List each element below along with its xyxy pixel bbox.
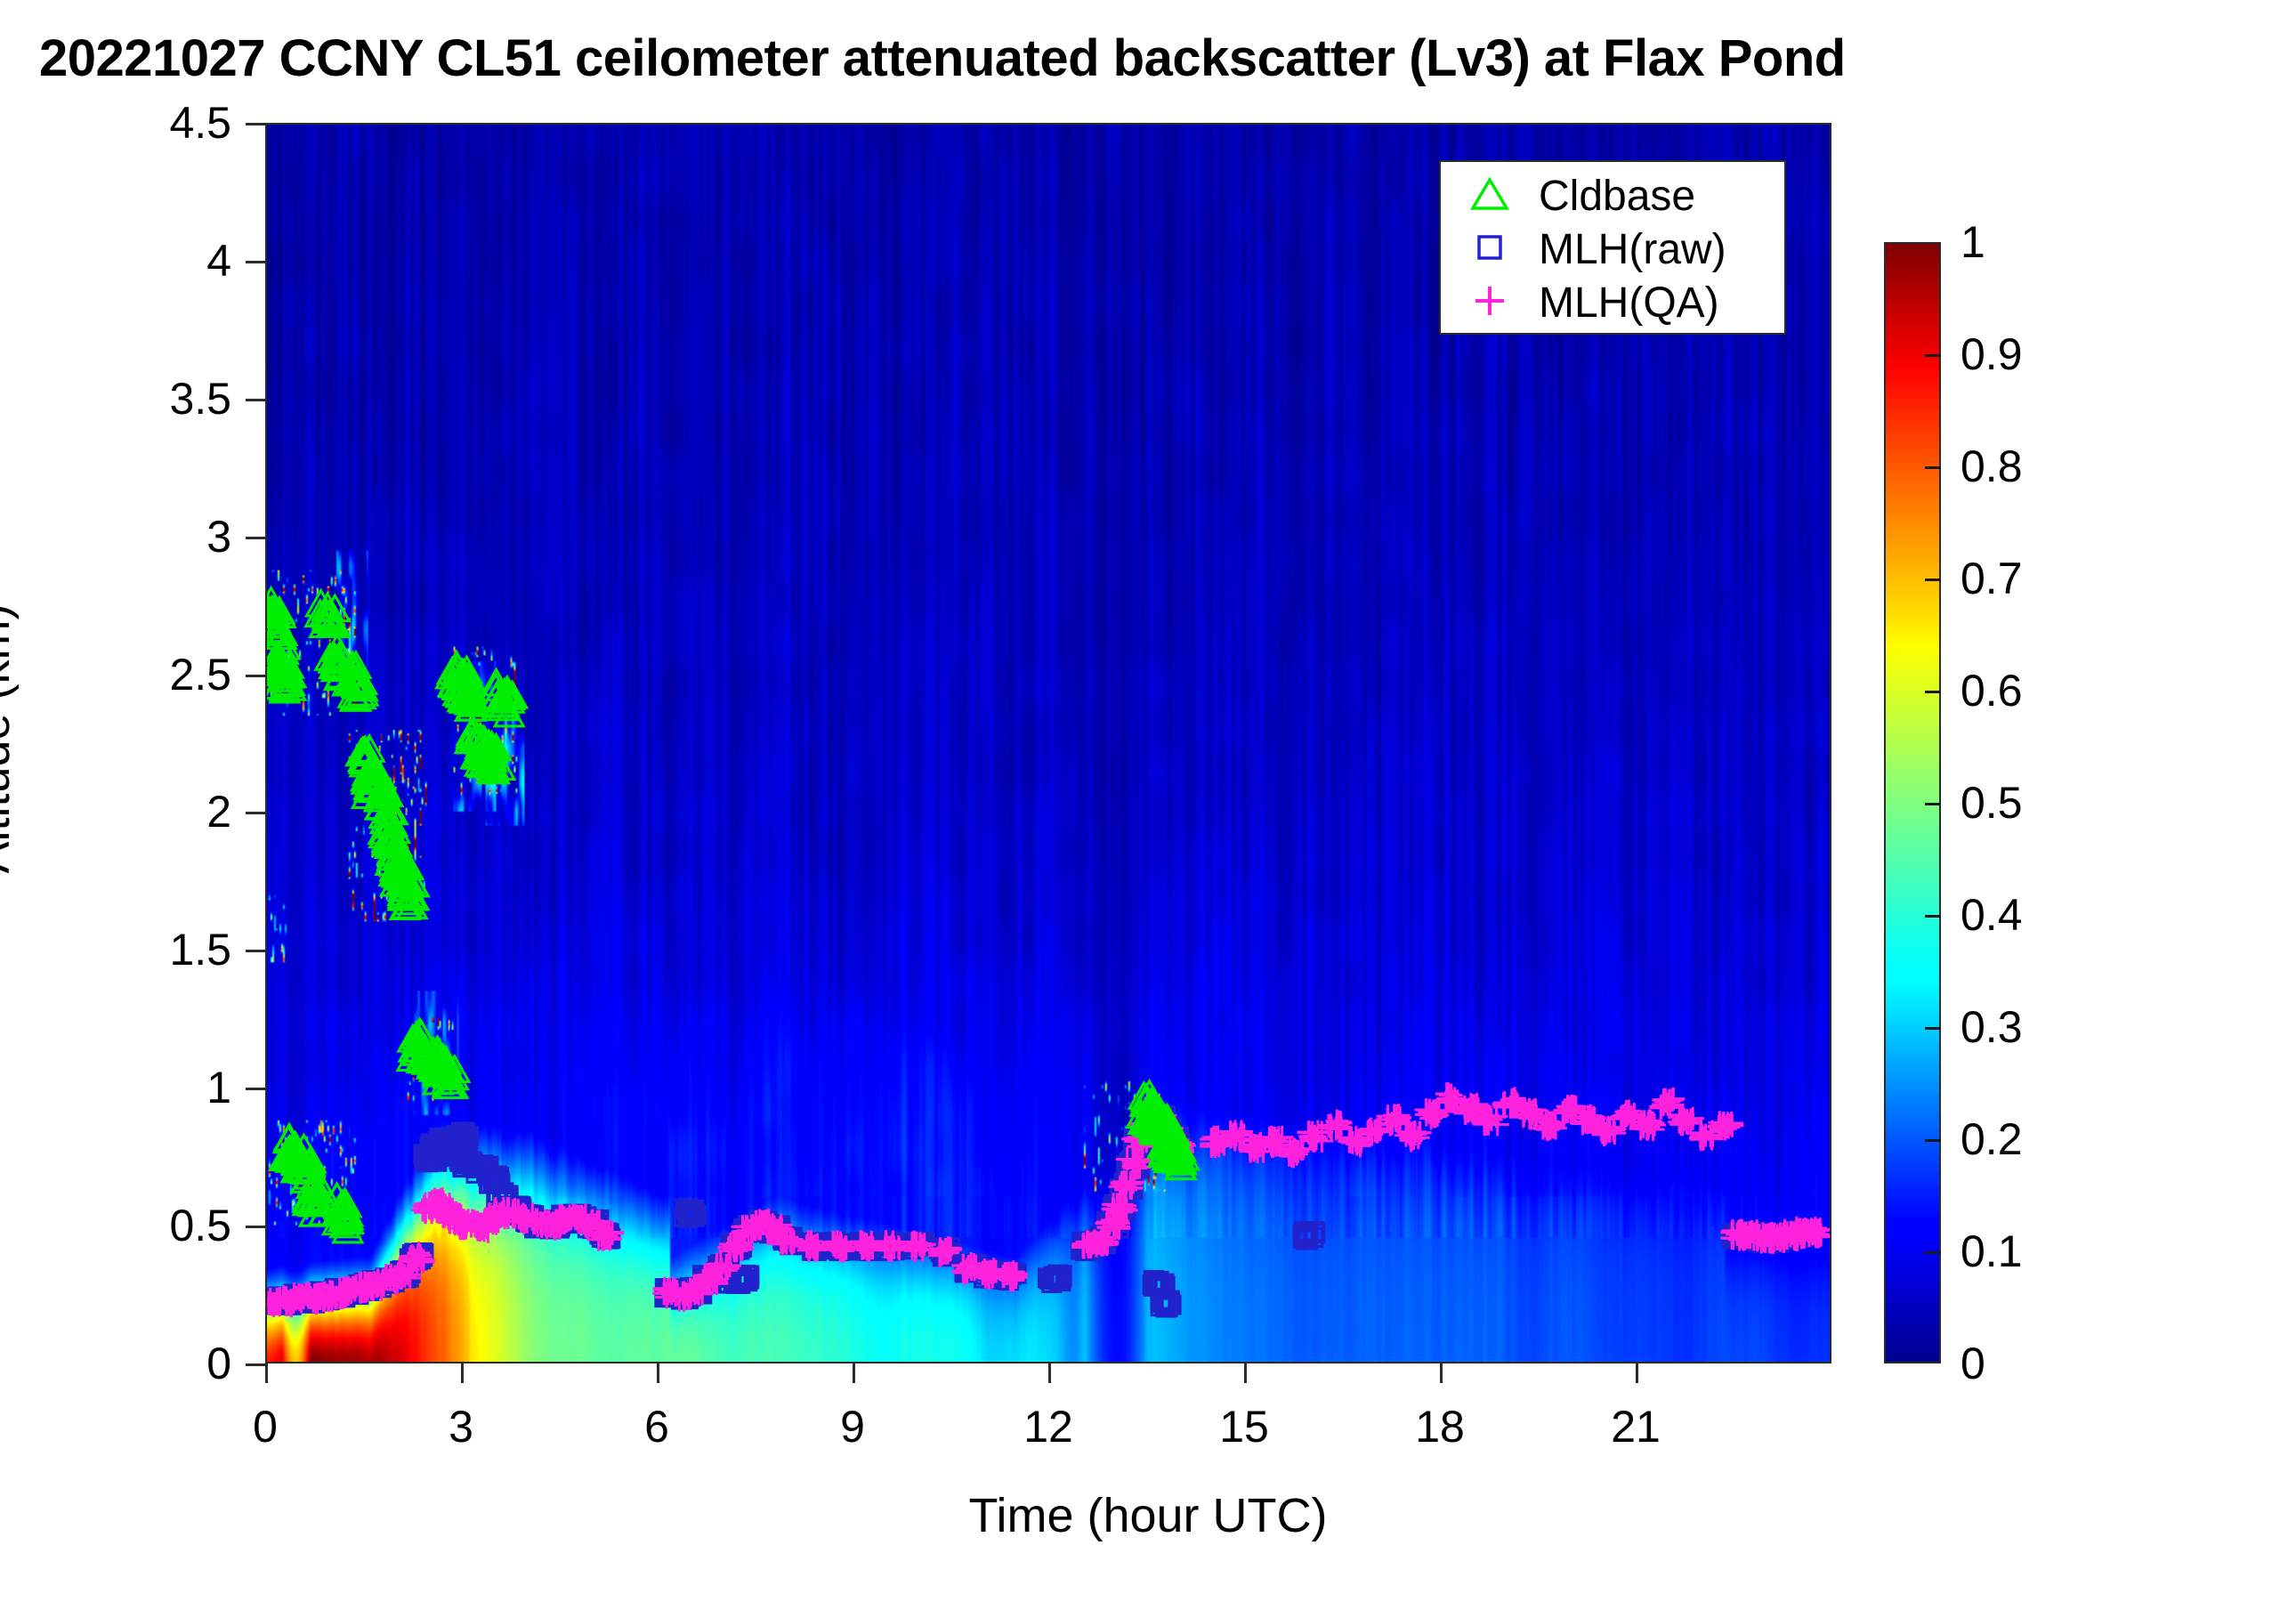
x-tick-mark (1048, 1363, 1051, 1383)
colorbar-tick-mark (1925, 466, 1941, 469)
y-tick-mark (246, 1088, 265, 1090)
x-tick-mark (1636, 1363, 1638, 1383)
x-tick-mark (657, 1363, 659, 1383)
colorbar-tick-label: 0.6 (1960, 665, 2023, 716)
legend-item-mlh-qa: MLH(QA) (1441, 276, 1784, 329)
x-axis-label: Time (hour UTC) (968, 1488, 1327, 1543)
x-tick-label: 6 (644, 1401, 669, 1452)
legend-item-mlh-raw: MLH(raw) (1441, 222, 1784, 276)
legend-label-cldbase: Cldbase (1539, 172, 1695, 221)
colorbar-tick-label: 0.2 (1960, 1113, 2023, 1165)
x-tick-mark (1440, 1363, 1443, 1383)
colorbar-tick-label: 0.1 (1960, 1226, 2023, 1277)
y-tick-label: 4.5 (0, 97, 231, 149)
y-tick-mark (246, 399, 265, 401)
y-tick-label: 0 (0, 1338, 231, 1389)
plus-icon (1441, 281, 1539, 325)
x-tick-label: 15 (1219, 1401, 1269, 1452)
y-tick-label: 4 (0, 235, 231, 287)
colorbar-tick-mark (1925, 803, 1941, 805)
legend: Cldbase MLH(raw) MLH(QA) (1439, 160, 1786, 335)
x-tick-label: 0 (253, 1401, 278, 1452)
y-tick-mark (246, 950, 265, 952)
x-tick-mark (461, 1363, 464, 1383)
y-tick-label: 1 (0, 1062, 231, 1113)
x-tick-mark (853, 1363, 855, 1383)
y-tick-mark (246, 812, 265, 814)
figure-title: 20221027 CCNY CL51 ceilometer attenuated… (39, 28, 2139, 88)
y-tick-mark (246, 1226, 265, 1228)
colorbar-tick-label: 0 (1960, 1338, 1985, 1389)
x-tick-label: 9 (840, 1401, 865, 1452)
triangle-icon (1441, 176, 1539, 216)
legend-item-cldbase: Cldbase (1441, 169, 1784, 222)
y-tick-label: 3.5 (0, 373, 231, 425)
y-tick-label: 0.5 (0, 1200, 231, 1251)
colorbar-tick-label: 0.8 (1960, 441, 2023, 492)
colorbar-tick-mark (1925, 1251, 1941, 1254)
colorbar-tick-mark (1925, 691, 1941, 693)
colorbar-tick-label: 0.7 (1960, 553, 2023, 604)
y-tick-label: 2.5 (0, 649, 231, 700)
colorbar-tick-label: 0.3 (1960, 1001, 2023, 1053)
colorbar-tick-label: 0.4 (1960, 889, 2023, 941)
colorbar-tick-mark (1925, 1139, 1941, 1142)
legend-label-mlh-qa: MLH(QA) (1539, 279, 1719, 328)
colorbar-tick-mark (1925, 578, 1941, 581)
x-tick-mark (265, 1363, 268, 1383)
square-icon (1441, 230, 1539, 270)
legend-label-mlh-raw: MLH(raw) (1539, 225, 1726, 274)
x-tick-label: 21 (1611, 1401, 1661, 1452)
colorbar-tick-label: 1 (1960, 216, 1985, 268)
colorbar-tick-mark (1925, 354, 1941, 357)
y-tick-label: 3 (0, 511, 231, 562)
y-tick-label: 2 (0, 786, 231, 837)
series-cldbase (267, 588, 1198, 1242)
x-tick-mark (1244, 1363, 1247, 1383)
y-tick-mark (246, 1363, 265, 1366)
y-tick-mark (246, 537, 265, 539)
colorbar-tick-label: 0.5 (1960, 777, 2023, 829)
y-tick-mark (246, 261, 265, 263)
colorbar-tick-label: 0.9 (1960, 328, 2023, 380)
y-tick-mark (246, 123, 265, 125)
colorbar-tick-mark (1925, 1027, 1941, 1030)
x-tick-label: 3 (449, 1401, 473, 1452)
x-tick-label: 18 (1415, 1401, 1465, 1452)
colorbar-tick-mark (1925, 915, 1941, 918)
y-tick-mark (246, 675, 265, 677)
x-tick-label: 12 (1023, 1401, 1073, 1452)
y-tick-label: 1.5 (0, 924, 231, 975)
